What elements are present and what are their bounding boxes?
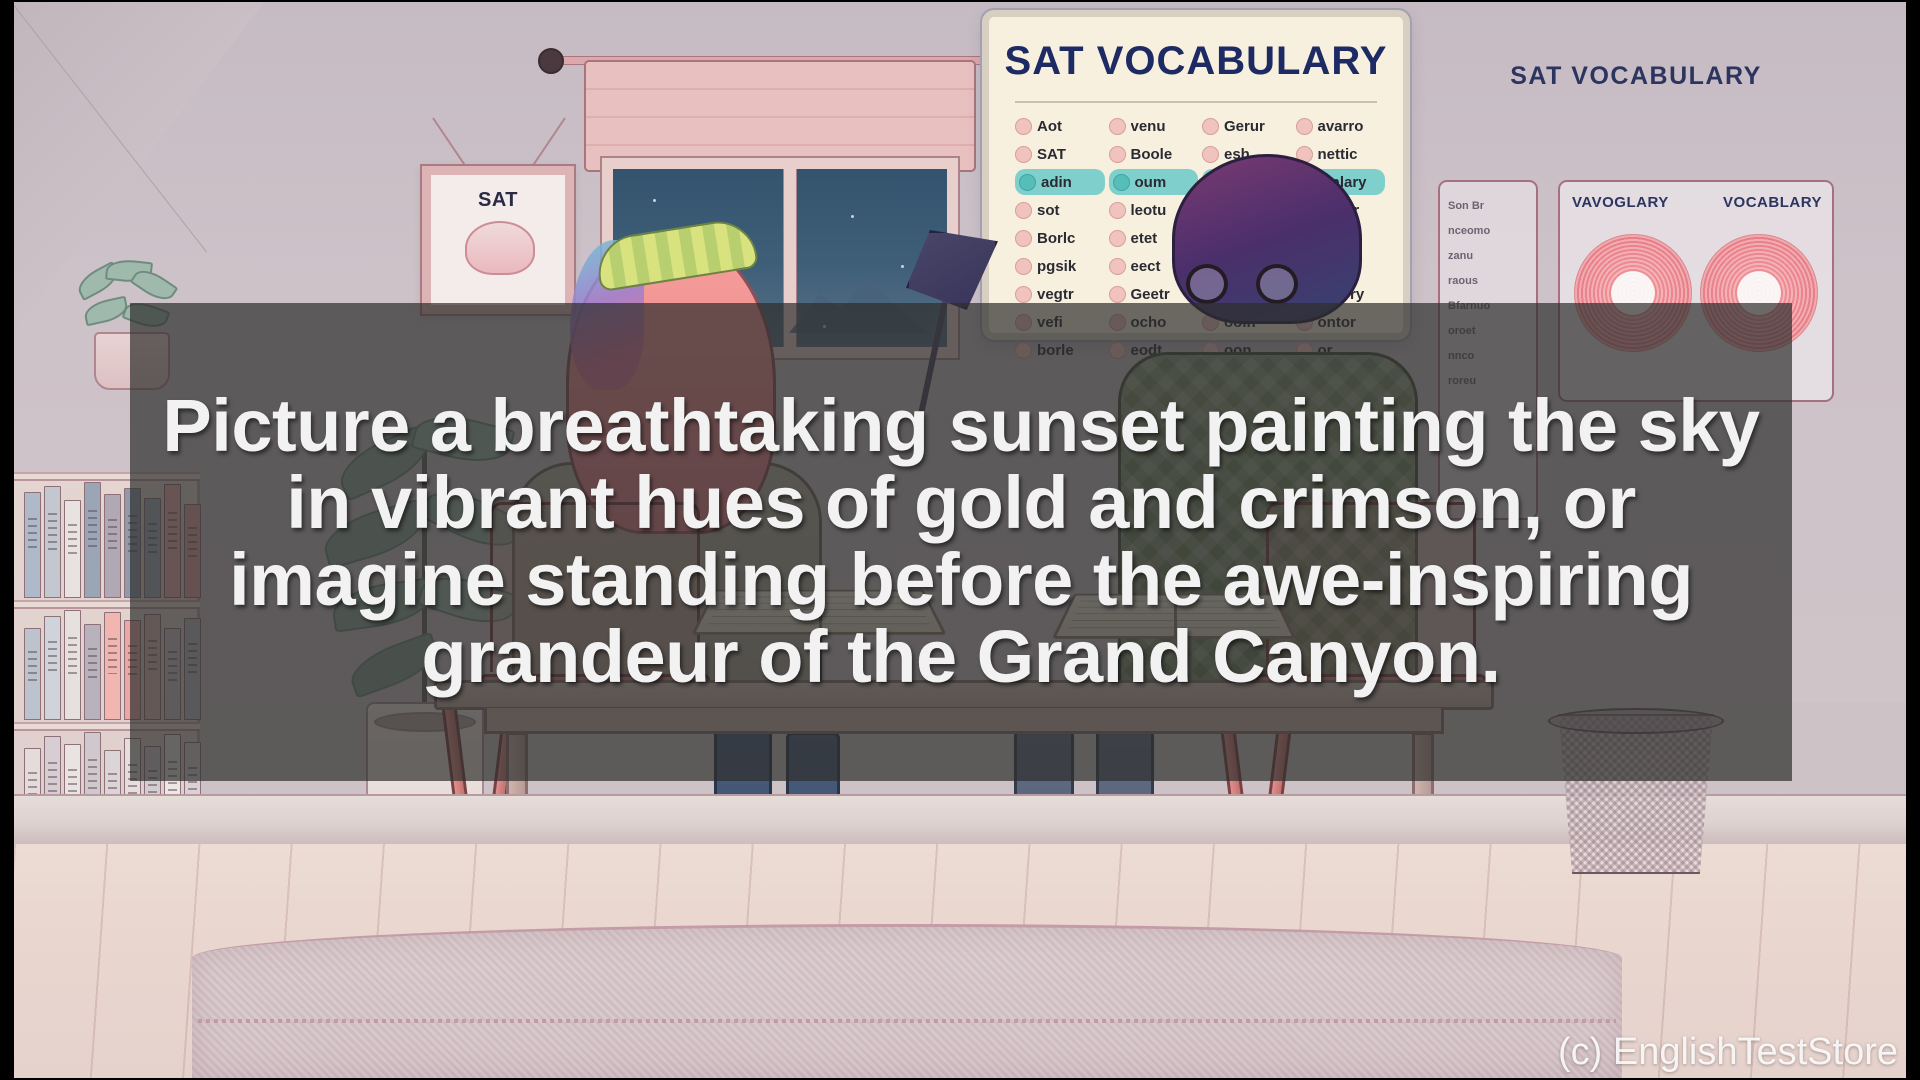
word-bullet-icon xyxy=(1296,118,1313,135)
word-bullet-icon xyxy=(1019,174,1036,191)
frame-artwork xyxy=(465,221,535,275)
secondary-poster-list-item: raous xyxy=(1448,275,1528,287)
word-bullet-icon xyxy=(1113,174,1130,191)
poster-word-cell: venu xyxy=(1109,113,1199,139)
caption-text: Picture a breathtaking sunset painting t… xyxy=(156,388,1766,696)
poster-word-label: Borlc xyxy=(1037,230,1075,247)
word-bullet-icon xyxy=(1109,202,1126,219)
word-bullet-icon xyxy=(1015,286,1032,303)
word-bullet-icon xyxy=(1015,202,1032,219)
poster-title: SAT VOCABULARY xyxy=(989,39,1403,84)
window-blind xyxy=(584,60,976,172)
poster-word-label: nettic xyxy=(1318,146,1358,163)
poster-word-label: leotu xyxy=(1131,202,1167,219)
word-bullet-icon xyxy=(1202,118,1219,135)
frame-border-top xyxy=(0,0,1920,2)
word-bullet-icon xyxy=(1109,286,1126,303)
poster-word-cell: Boole xyxy=(1109,141,1199,167)
secondary-poster-list-item: Son Br xyxy=(1448,200,1528,212)
word-bullet-icon xyxy=(1015,258,1032,275)
sub-panel-label-1: VAVOGLARY xyxy=(1572,194,1669,211)
poster-word-cell: sot xyxy=(1015,197,1105,223)
poster-word-label: pgsik xyxy=(1037,258,1076,275)
poster-word-cell: avarro xyxy=(1296,113,1386,139)
watermark: (c) EnglishTestStore xyxy=(1558,1031,1898,1074)
poster-word-label: oum xyxy=(1135,174,1167,191)
word-bullet-icon xyxy=(1015,146,1032,163)
sub-panel-label-2: VOCABLARY xyxy=(1723,194,1822,211)
secondary-poster-list-item: zanu xyxy=(1448,250,1528,262)
poster-word-label: adin xyxy=(1041,174,1072,191)
poster-word-label: etet xyxy=(1131,230,1158,247)
poster-word-cell: adin xyxy=(1015,169,1105,195)
word-bullet-icon xyxy=(1109,118,1126,135)
poster-word-label: Geetr xyxy=(1131,286,1170,303)
word-bullet-icon xyxy=(1109,146,1126,163)
poster-word-cell: Aot xyxy=(1015,113,1105,139)
frame-border-right xyxy=(1906,0,1920,1080)
poster-word-label: sot xyxy=(1037,202,1060,219)
poster-word-label: Aot xyxy=(1037,118,1062,135)
secondary-poster-title: SAT VOCABULARY xyxy=(1426,62,1846,91)
secondary-poster-list-item: nceomo xyxy=(1448,225,1528,237)
word-bullet-icon xyxy=(1109,230,1126,247)
area-rug xyxy=(192,924,1622,1078)
poster-word-label: SAT xyxy=(1037,146,1066,163)
word-bullet-icon xyxy=(1015,118,1032,135)
frame-border-left xyxy=(0,0,14,1080)
caption-overlay: Picture a breathtaking sunset painting t… xyxy=(130,303,1792,781)
poster-word-label: Gerur xyxy=(1224,118,1265,135)
poster-word-label: eect xyxy=(1131,258,1161,275)
poster-word-label: venu xyxy=(1131,118,1166,135)
round-glasses-icon xyxy=(1186,264,1298,304)
poster-word-label: Boole xyxy=(1131,146,1173,163)
screenshot-root: SAT SAT VOCABULARY xyxy=(0,0,1920,1080)
poster-word-cell: Gerur xyxy=(1202,113,1292,139)
poster-word-cell: Borlc xyxy=(1015,225,1105,251)
poster-word-cell: pgsik xyxy=(1015,253,1105,279)
word-bullet-icon xyxy=(1202,146,1219,163)
poster-word-cell: SAT xyxy=(1015,141,1105,167)
word-bullet-icon xyxy=(1015,230,1032,247)
frame-sat-label: SAT xyxy=(431,189,565,212)
poster-word-cell: oum xyxy=(1109,169,1199,195)
poster-word-label: avarro xyxy=(1318,118,1364,135)
word-bullet-icon xyxy=(1109,258,1126,275)
poster-word-label: vegtr xyxy=(1037,286,1074,303)
